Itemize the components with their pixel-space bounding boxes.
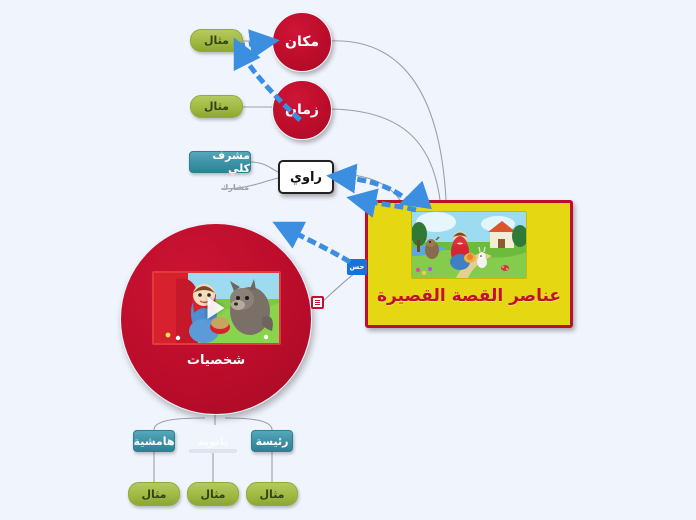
note-line-3: [315, 304, 320, 305]
pill-omniscient-label: مشرف كلي: [190, 149, 250, 175]
mindmap-canvas: عناصر القصة القصيرة مكان زمان راوي: [0, 0, 696, 520]
pill-example-marginal[interactable]: مثال: [128, 482, 180, 506]
pill-example-main[interactable]: مثال: [246, 482, 298, 506]
pill-example-makan-label: مثال: [204, 34, 229, 47]
pill-example-marginal-label: مثال: [142, 488, 167, 501]
blue-badge-label: حس: [350, 263, 365, 271]
pill-secondary-characters[interactable]: ثانوية: [190, 430, 236, 452]
characters-video-thumbnail[interactable]: [152, 271, 281, 345]
note-line-2: [315, 302, 320, 303]
story-illustration-image: [411, 211, 527, 279]
node-shakhsiyat-label: شخصيات: [187, 353, 245, 368]
node-makan[interactable]: مكان: [272, 12, 332, 72]
pill-example-zaman-label: مثال: [204, 100, 229, 113]
pill-example-secondary[interactable]: مثال: [187, 482, 239, 506]
pill-marginal-label: هامشية: [134, 435, 175, 448]
pill-main-characters[interactable]: رئيسة: [251, 430, 293, 452]
blue-badge[interactable]: حس: [347, 259, 367, 275]
pill-main-label: رئيسة: [256, 435, 289, 448]
pill-example-secondary-label: مثال: [201, 488, 226, 501]
central-node-title: عناصر القصة القصيرة: [377, 286, 561, 306]
pill-omniscient-narrator[interactable]: مشرف كلي: [189, 151, 251, 173]
pill-marginal-characters[interactable]: هامشية: [133, 430, 175, 452]
node-rawi-label: راوي: [290, 170, 322, 185]
pill-example-makan[interactable]: مثال: [190, 29, 243, 52]
node-zaman-label: زمان: [285, 102, 319, 118]
node-makan-label: مكان: [285, 34, 319, 50]
node-rawi[interactable]: راوي: [278, 160, 334, 194]
label-participant-text: مشارك: [221, 183, 249, 192]
pill-example-main-label: مثال: [260, 488, 285, 501]
central-node[interactable]: عناصر القصة القصيرة: [365, 200, 573, 328]
note-lines-icon[interactable]: [311, 296, 324, 309]
note-line-1: [315, 300, 320, 301]
pill-secondary-label: ثانوية: [198, 435, 228, 448]
node-zaman[interactable]: زمان: [272, 80, 332, 140]
play-triangle-icon[interactable]: [208, 297, 225, 319]
label-participant-narrator[interactable]: مشارك: [221, 183, 249, 192]
pill-example-zaman[interactable]: مثال: [190, 95, 243, 118]
node-shakhsiyat[interactable]: شخصيات: [120, 223, 312, 415]
